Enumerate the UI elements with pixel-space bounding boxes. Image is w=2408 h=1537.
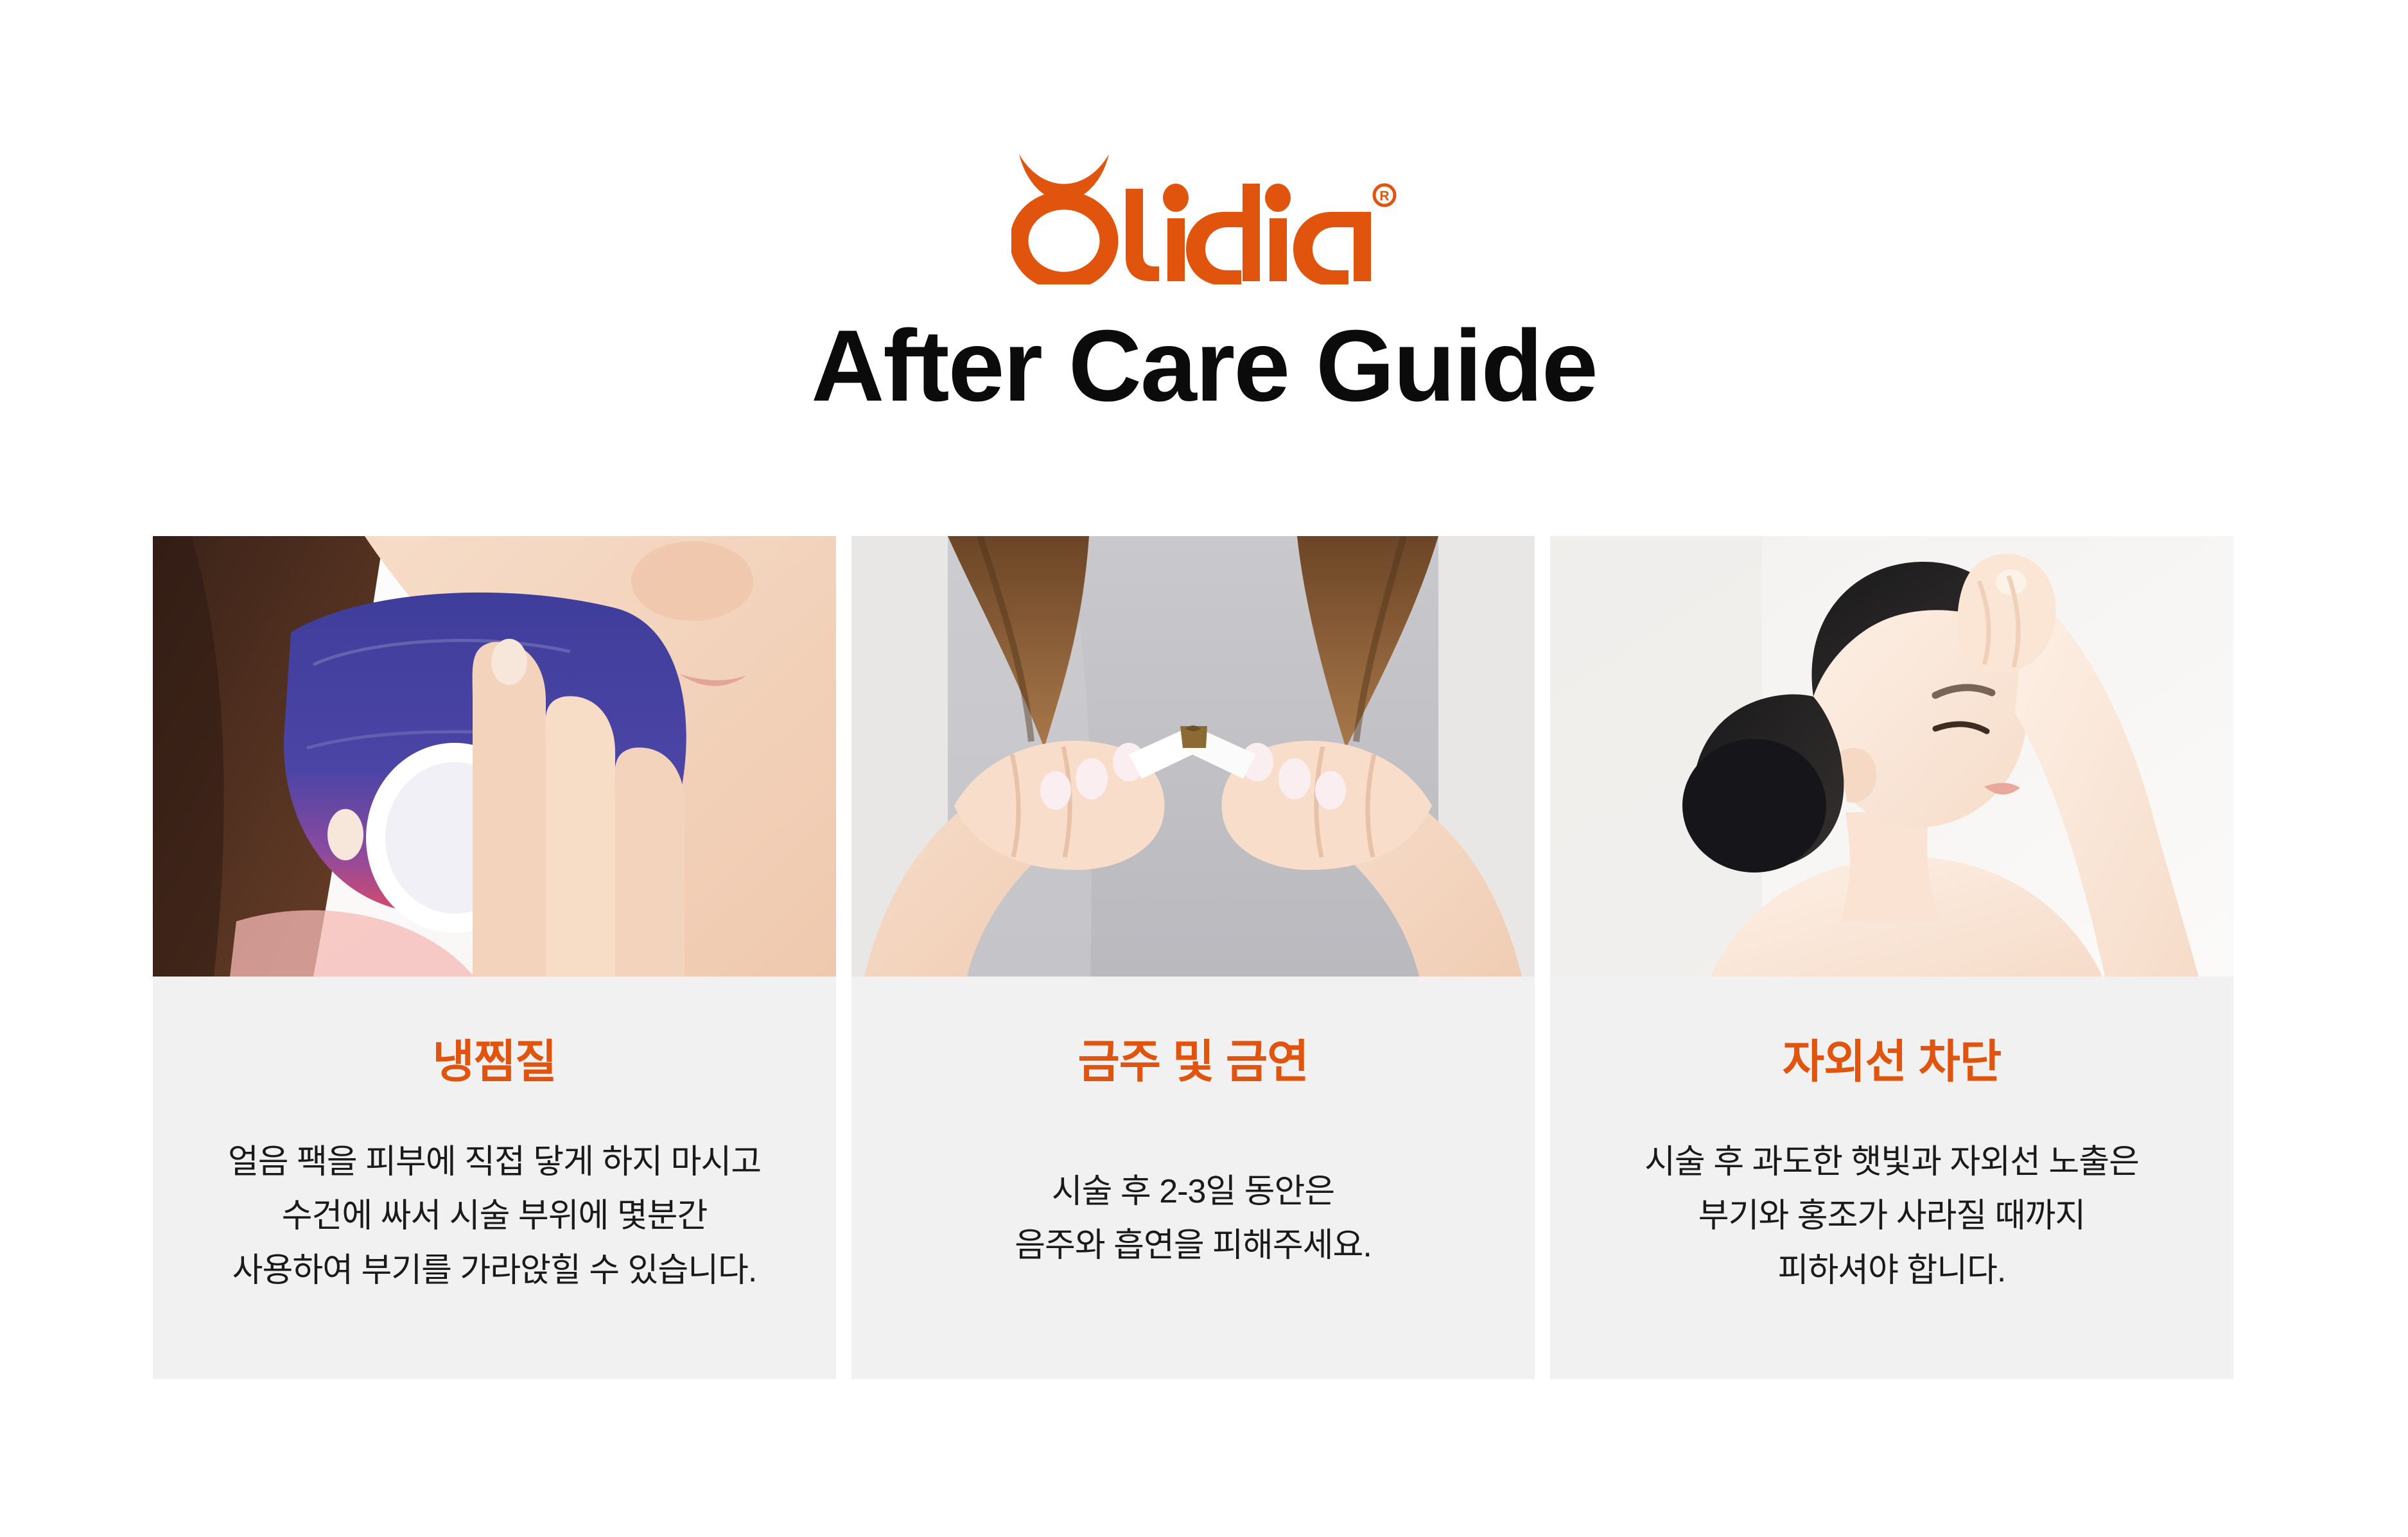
- card-description-line: 수건에 싸서 시술 부위에 몇분간: [179, 1189, 810, 1243]
- card-description-line: 피하셔야 합니다.: [1576, 1244, 2208, 1298]
- card-description-line: 음주와 흡연을 피해주세요.: [877, 1219, 1509, 1272]
- card-title: 자외선 차단: [1576, 1038, 2208, 1088]
- card-text-block: 자외선 차단 시술 후 과도한 햇빛과 자외선 노출은 부기와 홍조가 사라질 …: [1550, 977, 2233, 1379]
- card-text-block: 금주 및 금연 시술 후 2-3일 동안은 음주와 흡연을 피해주세요.: [851, 977, 1535, 1379]
- page-header: R After Care Guide: [0, 0, 2408, 485]
- card-description: 시술 후 과도한 햇빛과 자외선 노출은 부기와 홍조가 사라질 때까지 피하셔…: [1576, 1135, 2208, 1298]
- care-card-no-alcohol-no-smoking: 금주 및 금연 시술 후 2-3일 동안은 음주와 흡연을 피해주세요.: [851, 536, 1535, 1379]
- registered-trademark-icon: R: [1379, 189, 1389, 204]
- card-text-block: 냉찜질 얼음 팩을 피부에 직접 닿게 하지 마시고 수건에 싸서 시술 부위에…: [153, 977, 836, 1379]
- card-description: 시술 후 2-3일 동안은 음주와 흡연을 피해주세요.: [877, 1165, 1509, 1272]
- card-description-line: 사용하여 부기를 가라앉힐 수 있습니다.: [179, 1244, 810, 1298]
- card-description: 얼음 팩을 피부에 직접 닿게 하지 마시고 수건에 싸서 시술 부위에 몇분간…: [179, 1135, 810, 1298]
- woman-shielding-face-from-sun-photo: [1550, 536, 2233, 977]
- care-card-cold-compress: 냉찜질 얼음 팩을 피부에 직접 닿게 하지 마시고 수건에 싸서 시술 부위에…: [153, 536, 836, 1379]
- card-title: 냉찜질: [179, 1038, 810, 1088]
- olidia-logo: R: [1011, 146, 1397, 284]
- breaking-cigarette-photo: [851, 536, 1535, 977]
- page-title: After Care Guide: [811, 315, 1597, 417]
- card-description-line: 시술 후 과도한 햇빛과 자외선 노출은: [1576, 1135, 2208, 1189]
- ice-pack-on-cheek-photo: [153, 536, 836, 977]
- card-title: 금주 및 금연: [877, 1038, 1509, 1088]
- care-card-uv-protection: 자외선 차단 시술 후 과도한 햇빛과 자외선 노출은 부기와 홍조가 사라질 …: [1550, 536, 2233, 1379]
- card-description-line: 얼음 팩을 피부에 직접 닿게 하지 마시고: [179, 1135, 810, 1189]
- card-description-line: 부기와 홍조가 사라질 때까지: [1576, 1189, 2208, 1243]
- card-description-line: 시술 후 2-3일 동안은: [877, 1165, 1509, 1219]
- after-care-card-list: 냉찜질 얼음 팩을 피부에 직접 닿게 하지 마시고 수건에 싸서 시술 부위에…: [153, 536, 2233, 1379]
